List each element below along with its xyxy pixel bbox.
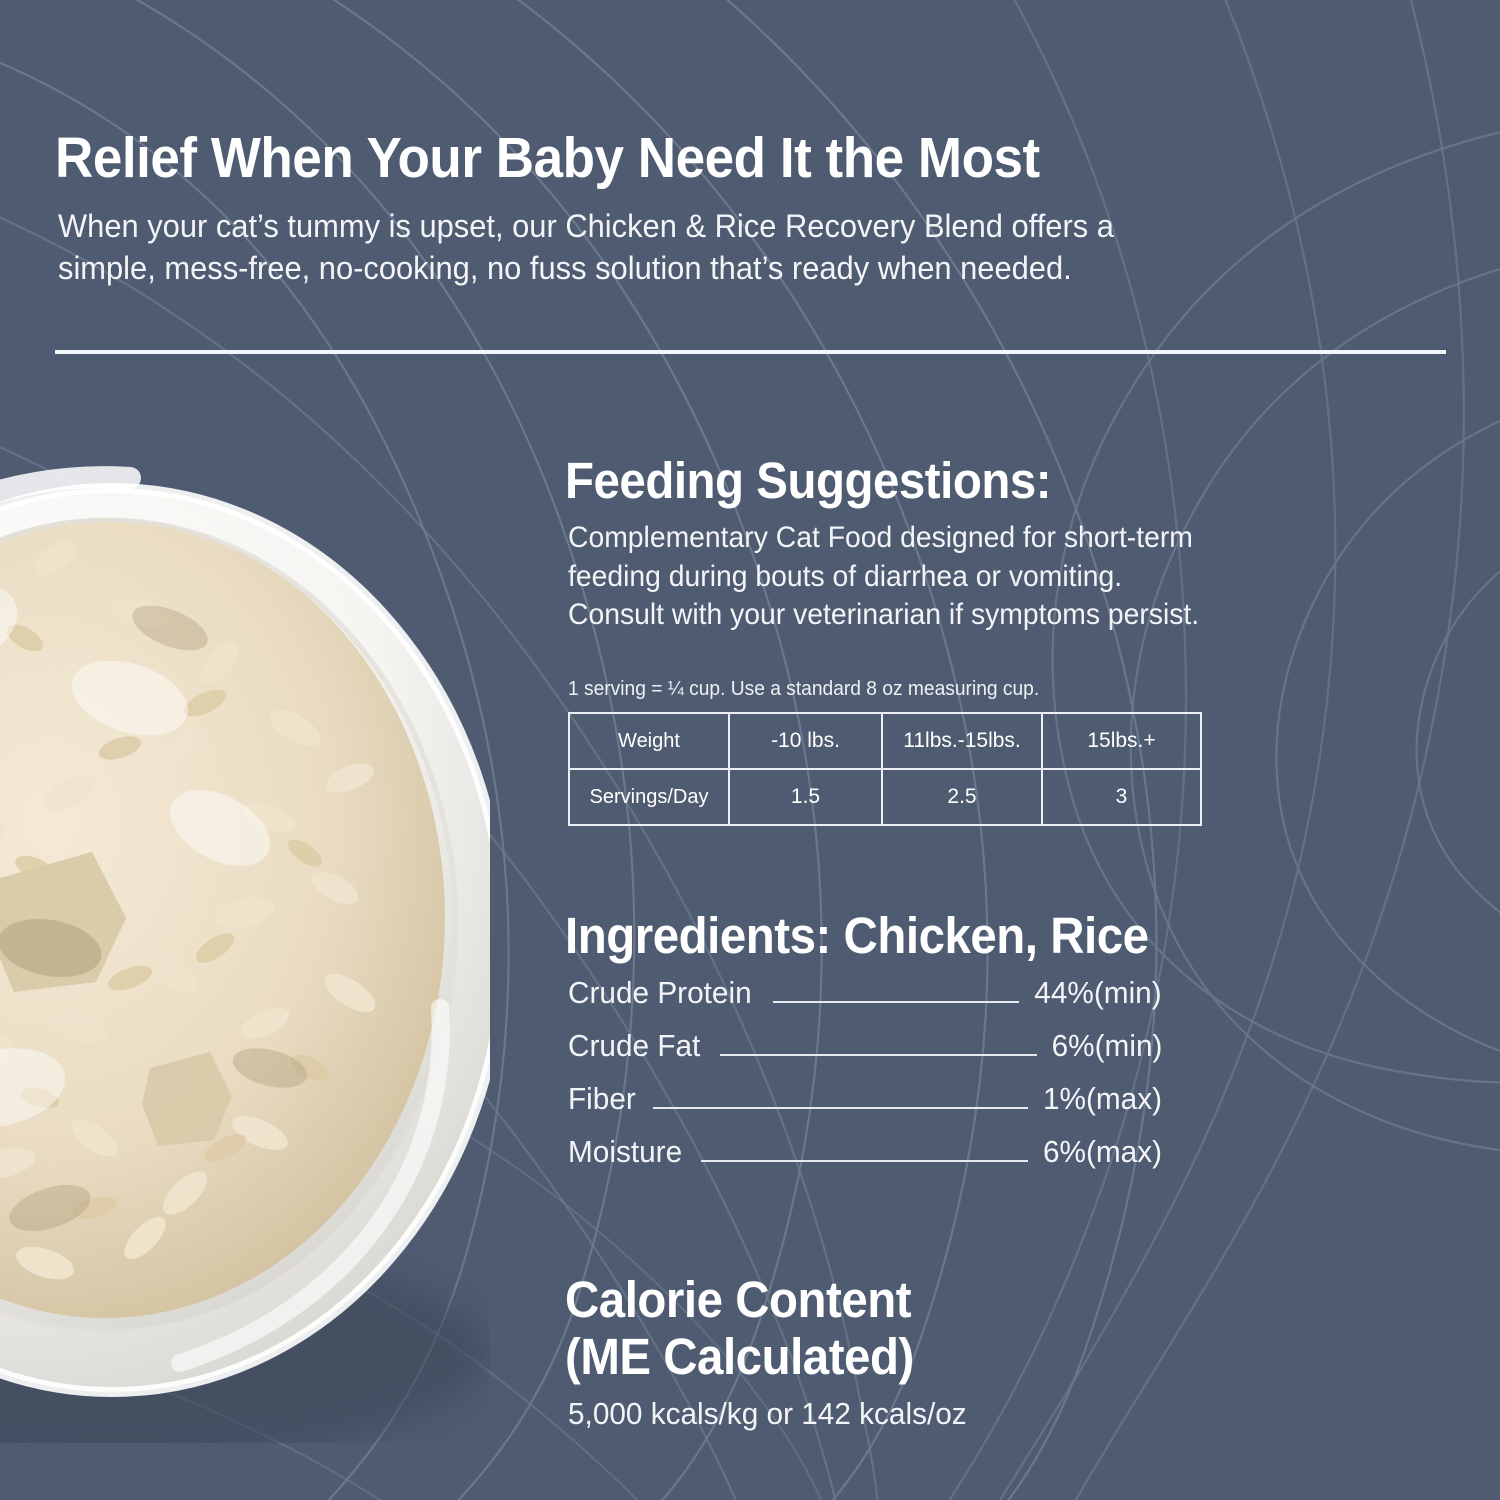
table-cell: 2.5 <box>882 769 1042 825</box>
leader-rule <box>701 1160 1028 1162</box>
analysis-value: 1%(max) <box>1043 1081 1162 1117</box>
list-item: Crude Protein 44%(min) <box>568 975 1162 1028</box>
feeding-body-line-1: Complementary Cat Food designed for shor… <box>568 519 1365 558</box>
table-cell: 3 <box>1042 769 1201 825</box>
analysis-label: Fiber <box>568 1081 636 1117</box>
analysis-label: Crude Protein <box>568 975 752 1011</box>
leader-rule <box>720 1054 1037 1056</box>
table-row: Weight -10 lbs. 11lbs.-15lbs. 15lbs.+ <box>569 713 1201 769</box>
table-row: Servings/Day 1.5 2.5 3 <box>569 769 1201 825</box>
feeding-body-line-2: feeding during bouts of diarrhea or vomi… <box>568 558 1365 597</box>
infographic-canvas: Relief When Your Baby Need It the Most W… <box>0 0 1500 1500</box>
section-divider <box>55 350 1446 354</box>
feeding-body-line-3: Consult with your veterinarian if sympto… <box>568 596 1365 635</box>
list-item: Fiber 1%(max) <box>568 1081 1162 1134</box>
table-row-header: Weight <box>569 713 729 769</box>
analysis-label: Moisture <box>568 1134 682 1170</box>
list-item: Moisture 6%(max) <box>568 1134 1162 1187</box>
analysis-value: 44%(min) <box>1035 975 1162 1011</box>
table-cell: 15lbs.+ <box>1042 713 1201 769</box>
table-cell: 1.5 <box>729 769 882 825</box>
feeding-chart-table: Weight -10 lbs. 11lbs.-15lbs. 15lbs.+ Se… <box>568 712 1202 826</box>
leader-rule <box>653 1107 1028 1109</box>
calorie-heading-line-1: Calorie Content <box>565 1271 914 1328</box>
table-cell: 11lbs.-15lbs. <box>882 713 1042 769</box>
table-cell: -10 lbs. <box>729 713 882 769</box>
leader-rule <box>773 1001 1019 1003</box>
hero-subtitle-line-1: When your cat’s tummy is upset, our Chic… <box>58 205 1417 247</box>
serving-size-note: 1 serving = ¼ cup. Use a standard 8 oz m… <box>568 676 1039 702</box>
analysis-value: 6%(min) <box>1051 1028 1162 1064</box>
hero-subtitle: When your cat’s tummy is upset, our Chic… <box>58 205 1417 289</box>
calorie-heading-line-2: (ME Calculated) <box>565 1328 914 1385</box>
calorie-content-value: 5,000 kcals/kg or 142 kcals/oz <box>568 1394 967 1434</box>
hero-subtitle-line-2: simple, mess-free, no-cooking, no fuss s… <box>58 247 1417 289</box>
ingredients-heading: Ingredients: Chicken, Rice <box>565 908 1149 964</box>
analysis-label: Crude Fat <box>568 1028 700 1064</box>
feeding-suggestions-heading: Feeding Suggestions: <box>565 453 1051 509</box>
analysis-value: 6%(max) <box>1043 1134 1162 1170</box>
calorie-content-heading: Calorie Content (ME Calculated) <box>565 1271 914 1385</box>
guaranteed-analysis-list: Crude Protein 44%(min) Crude Fat 6%(min)… <box>568 975 1162 1187</box>
feeding-suggestions-body: Complementary Cat Food designed for shor… <box>568 519 1365 635</box>
page-title: Relief When Your Baby Need It the Most <box>55 127 1040 189</box>
list-item: Crude Fat 6%(min) <box>568 1028 1162 1081</box>
table-row-header: Servings/Day <box>569 769 729 825</box>
